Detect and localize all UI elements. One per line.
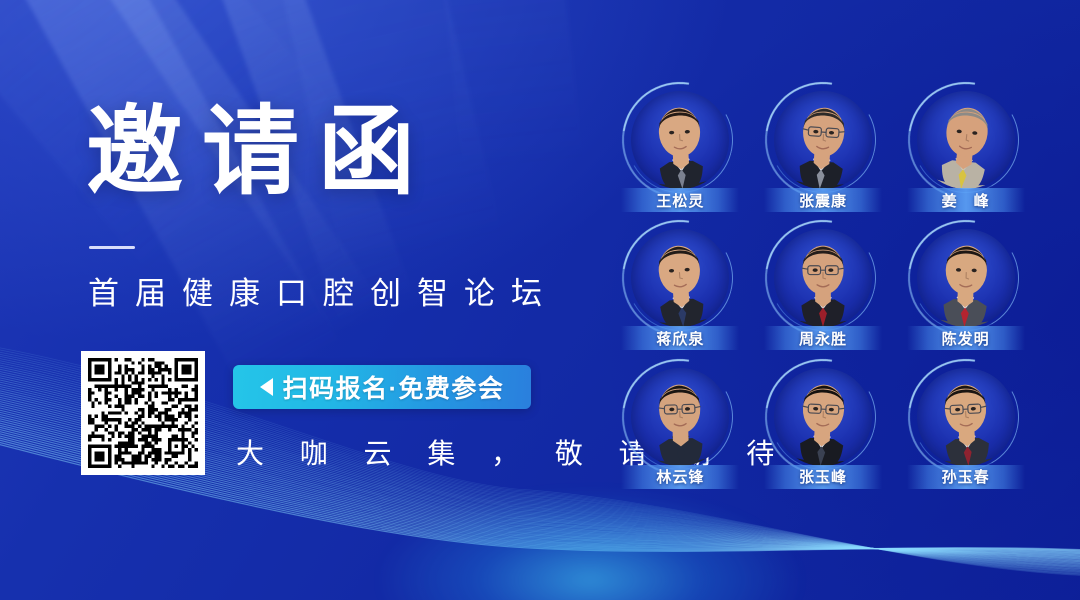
register-button[interactable]: 扫码报名·免费参会 <box>233 365 531 409</box>
portrait-ring <box>769 363 877 471</box>
speaker-portrait <box>917 368 1015 466</box>
speaker-cell[interactable]: 张玉峰 <box>756 363 891 496</box>
speaker-avatar-icon <box>917 368 1015 466</box>
speaker-avatar-icon <box>774 91 872 189</box>
speaker-name-plate: 林云锋 <box>621 465 739 489</box>
portrait-ring <box>626 224 734 332</box>
speaker-avatar-icon <box>631 368 729 466</box>
register-button-label: 扫码报名·免费参会 <box>283 369 505 405</box>
speaker-name-plate: 周永胜 <box>764 326 882 350</box>
speaker-name: 周永胜 <box>799 328 847 349</box>
title-divider <box>89 246 135 249</box>
speaker-avatar-icon <box>917 229 1015 327</box>
speaker-grid: 王松灵张震康姜 峰蒋欣泉周永胜陈发明林云锋张玉峰孙玉春 <box>613 86 1033 496</box>
qr-code[interactable] <box>81 351 205 475</box>
speaker-cell[interactable]: 周永胜 <box>756 224 891 357</box>
speaker-name-plate: 王松灵 <box>621 188 739 212</box>
speaker-portrait <box>917 91 1015 189</box>
speaker-name: 王松灵 <box>656 190 704 211</box>
portrait-ring <box>912 363 1020 471</box>
speaker-avatar-icon <box>774 229 872 327</box>
poster-canvas: 邀请函 首届健康口腔创智论坛 扫码报名·免费参会 大 咖 云 集 ， 敬 请 期… <box>0 0 1080 600</box>
page-title: 邀请函 <box>86 100 434 205</box>
portrait-ring <box>769 224 877 332</box>
speaker-portrait <box>917 229 1015 327</box>
speaker-name: 陈发明 <box>942 328 990 349</box>
portrait-ring <box>769 86 877 194</box>
speaker-cell[interactable]: 蒋欣泉 <box>613 224 748 357</box>
speaker-avatar-icon <box>631 229 729 327</box>
speaker-name-plate: 张玉峰 <box>764 465 882 489</box>
portrait-ring <box>912 224 1020 332</box>
speaker-name-plate: 蒋欣泉 <box>621 326 739 350</box>
speaker-name: 姜 峰 <box>942 190 990 211</box>
speaker-name: 张玉峰 <box>799 466 847 487</box>
speaker-name-plate: 孙玉春 <box>907 465 1025 489</box>
speaker-portrait <box>774 229 872 327</box>
speaker-cell[interactable]: 陈发明 <box>898 224 1033 357</box>
speaker-name: 林云锋 <box>656 466 704 487</box>
qr-code-icon <box>88 358 198 468</box>
speaker-portrait <box>774 91 872 189</box>
speaker-portrait <box>631 229 729 327</box>
speaker-cell[interactable]: 张震康 <box>756 86 891 219</box>
portrait-ring <box>912 86 1020 194</box>
speaker-cell[interactable]: 姜 峰 <box>898 86 1033 219</box>
speaker-name: 张震康 <box>799 190 847 211</box>
speaker-portrait <box>631 368 729 466</box>
portrait-ring <box>626 86 734 194</box>
speaker-name-plate: 陈发明 <box>907 326 1025 350</box>
speaker-cell[interactable]: 孙玉春 <box>898 363 1033 496</box>
speaker-cell[interactable]: 王松灵 <box>613 86 748 219</box>
speaker-name-plate: 张震康 <box>764 188 882 212</box>
speaker-avatar-icon <box>631 91 729 189</box>
speaker-name: 孙玉春 <box>942 466 990 487</box>
speaker-name-plate: 姜 峰 <box>907 188 1025 212</box>
speaker-avatar-icon <box>917 91 1015 189</box>
speaker-portrait <box>631 91 729 189</box>
speaker-cell[interactable]: 林云锋 <box>613 363 748 496</box>
portrait-ring <box>626 363 734 471</box>
triangle-left-icon <box>260 378 273 396</box>
speaker-avatar-icon <box>774 368 872 466</box>
event-subtitle: 首届健康口腔创智论坛 <box>88 268 558 313</box>
left-content-panel: 邀请函 首届健康口腔创智论坛 扫码报名·免费参会 大 咖 云 集 ， 敬 请 期… <box>0 0 600 600</box>
speaker-portrait <box>774 368 872 466</box>
speaker-name: 蒋欣泉 <box>656 328 704 349</box>
